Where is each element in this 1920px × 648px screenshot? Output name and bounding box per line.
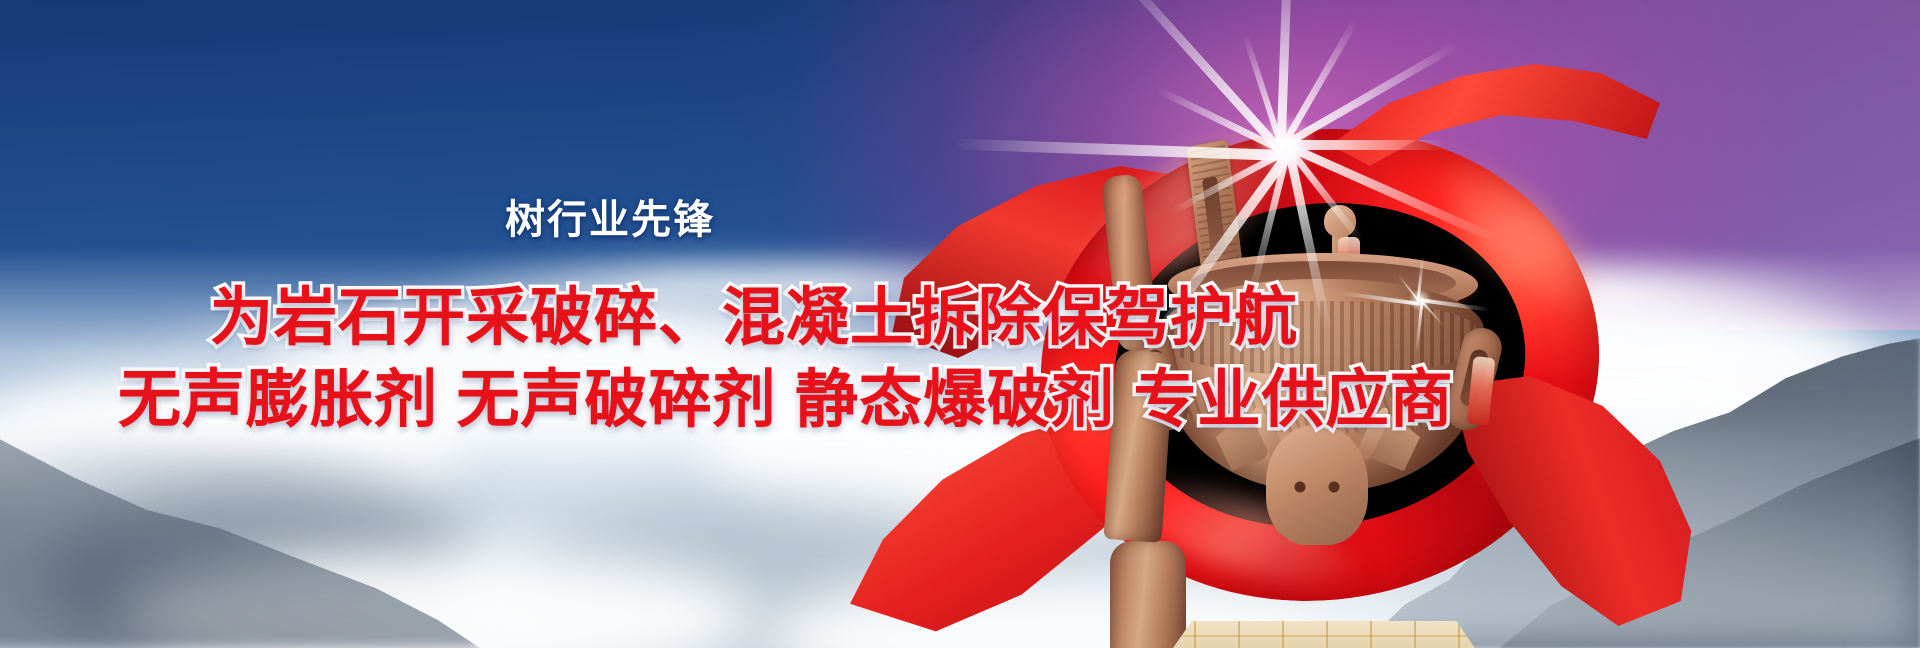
promotional-banner: 树行业先锋 为岩石开采破碎、混凝土拆除保驾护航 为岩石开采破碎、混凝土拆除保驾护… [0,0,1920,648]
stone-pedestal [1150,621,1498,648]
banner-headline-line1: 为岩石开采破碎、混凝土拆除保驾护航 [210,287,1298,350]
banner-headline-line2: 无声膨胀剂 无声破碎剂 静态爆破剂 专业供应商 [118,369,1454,432]
banner-tagline: 树行业先锋 [505,200,715,240]
ding-leg-front [1110,541,1186,648]
ding-taotie-mask-face [1266,425,1368,545]
